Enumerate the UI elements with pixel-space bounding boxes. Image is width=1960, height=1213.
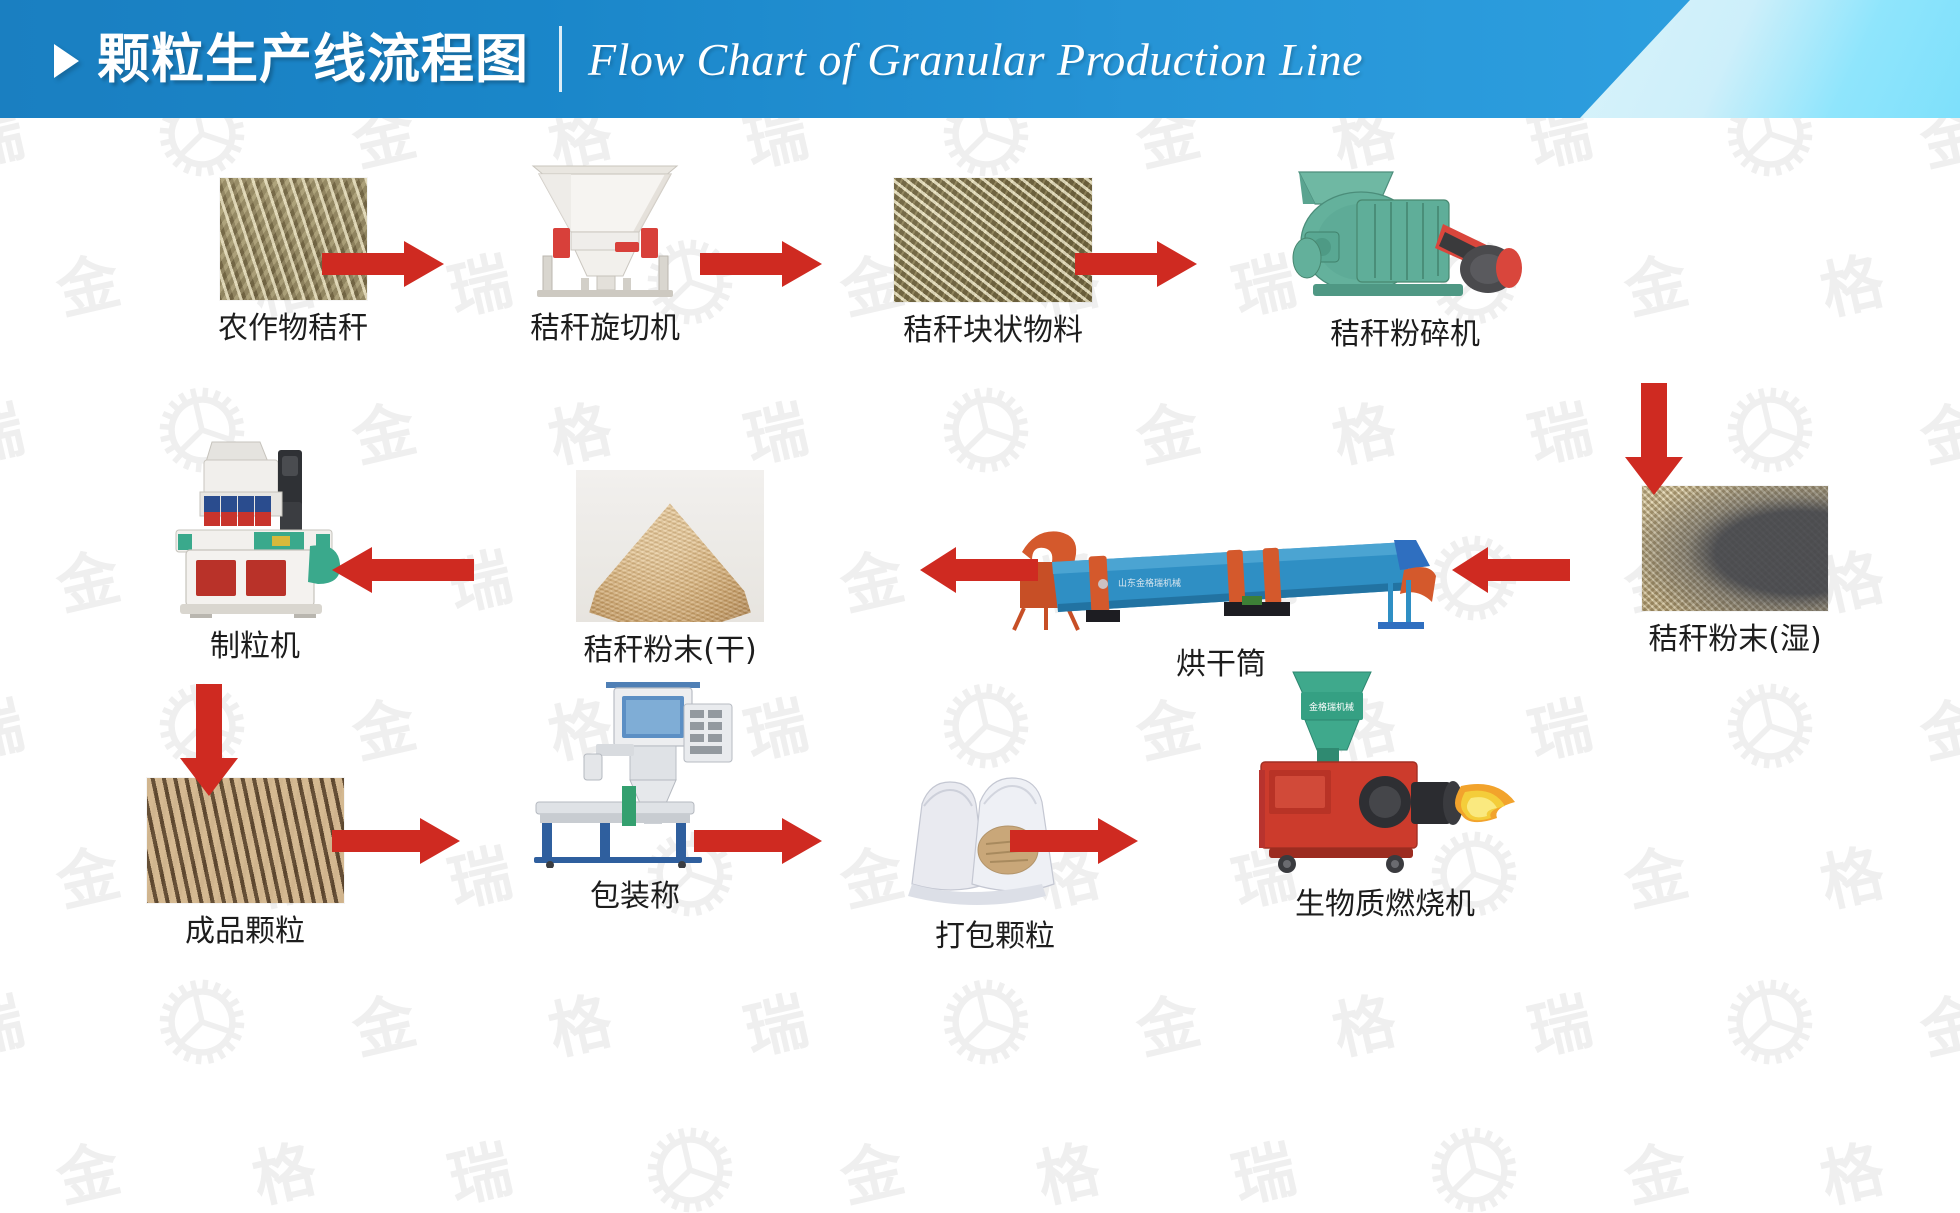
machine-pellet-mill <box>160 438 350 618</box>
header-content: 颗粒生产线流程图 Flow Chart of Granular Producti… <box>0 0 1760 118</box>
flow-node-label: 生物质燃烧机 <box>1295 890 1475 920</box>
flow-node-label: 打包颗粒 <box>935 922 1055 952</box>
svg-text:金格瑞机械: 金格瑞机械 <box>1309 701 1354 713</box>
flow-node-label: 制粒机 <box>210 632 300 662</box>
page-header: 颗粒生产线流程图 Flow Chart of Granular Producti… <box>0 0 1960 118</box>
flow-node-label: 秸秆粉末(干) <box>583 636 756 666</box>
flow-arrow-right-6 <box>1010 818 1138 864</box>
flow-arrow-down-2 <box>180 684 238 796</box>
flow-arrow-right-5 <box>694 818 822 864</box>
flow-arrow-right-4 <box>332 818 460 864</box>
flow-node-label: 农作物秸秆 <box>218 314 368 344</box>
flow-arrow-right-1 <box>322 241 444 287</box>
page-title-cn: 颗粒生产线流程图 <box>97 33 529 86</box>
svg-text:山东金格瑞机械: 山东金格瑞机械 <box>1118 577 1181 589</box>
flow-diagram: 农作物秸秆 <box>0 118 1960 1213</box>
photo-straw-blocks <box>894 178 1092 302</box>
flow-chart-page: 颗粒生产线流程图 Flow Chart of Granular Producti… <box>0 0 1960 1213</box>
flow-arrow-right-2 <box>700 241 822 287</box>
page-title-en: Flow Chart of Granular Production Line <box>588 33 1363 86</box>
photo-straw-powder-dry <box>576 470 764 622</box>
machine-straw-crusher <box>1283 146 1527 306</box>
powder-cone-shape <box>589 503 751 622</box>
flow-node-straw-crusher[interactable]: 秸秆粉碎机 <box>1210 146 1600 350</box>
flow-arrow-right-3 <box>1075 241 1197 287</box>
flow-arrow-left-3 <box>332 547 474 593</box>
play-triangle-icon <box>54 44 79 78</box>
machine-rotary-cutter <box>515 160 695 300</box>
flow-node-label: 秸秆粉末(湿) <box>1648 625 1821 655</box>
flow-node-label: 秸秆粉碎机 <box>1330 320 1480 350</box>
flow-node-label: 秸秆块状物料 <box>903 316 1083 346</box>
title-divider <box>559 26 562 92</box>
machine-rotary-dryer: 山东金格瑞机械 <box>1006 518 1436 636</box>
photo-straw-powder-wet <box>1642 486 1828 611</box>
flow-node-label: 包装称 <box>590 882 680 912</box>
flow-arrow-left-1 <box>1452 547 1570 593</box>
flow-node-label: 秸秆旋切机 <box>530 314 680 344</box>
flow-node-label: 成品颗粒 <box>185 917 305 947</box>
flow-node-biomass-burner[interactable]: 金格瑞机械 <box>1150 666 1620 920</box>
flow-arrow-down-1 <box>1625 383 1683 495</box>
photo-finished-pellets <box>147 778 344 903</box>
flow-node-bagging-scale[interactable]: 包装称 <box>470 678 800 912</box>
flow-node-rotary-dryer[interactable]: 山东金格瑞机械 烘干筒 <box>1006 518 1436 680</box>
flow-arrow-left-2 <box>920 547 1038 593</box>
flow-node-straw-powder-wet[interactable]: 秸秆粉末(湿) <box>1560 486 1910 655</box>
flow-node-straw-powder-dry[interactable]: 秸秆粉末(干) <box>500 470 840 666</box>
machine-biomass-burner: 金格瑞机械 <box>1235 666 1535 876</box>
